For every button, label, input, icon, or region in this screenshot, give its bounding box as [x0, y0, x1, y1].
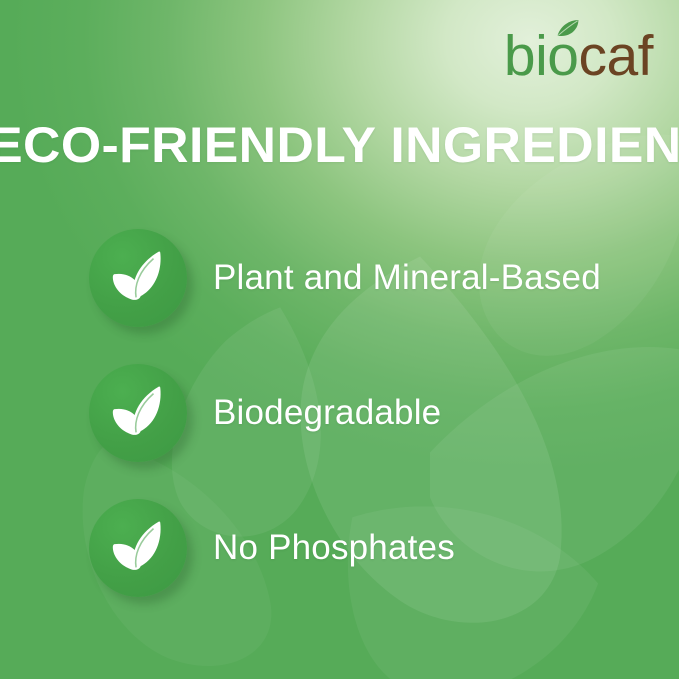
page-title: ECO-FRIENDLY INGREDIENTS — [0, 120, 679, 170]
feature-badge — [89, 364, 187, 462]
feature-list: Plant and Mineral-Based Biodegradable — [89, 228, 601, 598]
feature-label: No Phosphates — [213, 528, 455, 568]
list-item: Plant and Mineral-Based — [89, 228, 601, 328]
brand-name-caf: caf — [578, 24, 653, 88]
feature-label: Biodegradable — [213, 393, 441, 433]
feature-badge — [89, 499, 187, 597]
list-item: Biodegradable — [89, 363, 601, 463]
leaf-pair-icon — [107, 382, 169, 444]
feature-label: Plant and Mineral-Based — [213, 258, 601, 298]
leaf-pair-icon — [107, 247, 169, 309]
list-item: No Phosphates — [89, 498, 601, 598]
feature-badge — [89, 229, 187, 327]
brand-logo-wrap: biocaf — [504, 28, 653, 85]
leaf-pair-icon — [107, 517, 169, 579]
leaf-icon — [556, 19, 580, 37]
brand-logo: biocaf — [0, 28, 653, 85]
eco-friendly-ingredients-poster: biocaf ECO-FRIENDLY INGREDIENTS Plant an… — [0, 0, 679, 679]
